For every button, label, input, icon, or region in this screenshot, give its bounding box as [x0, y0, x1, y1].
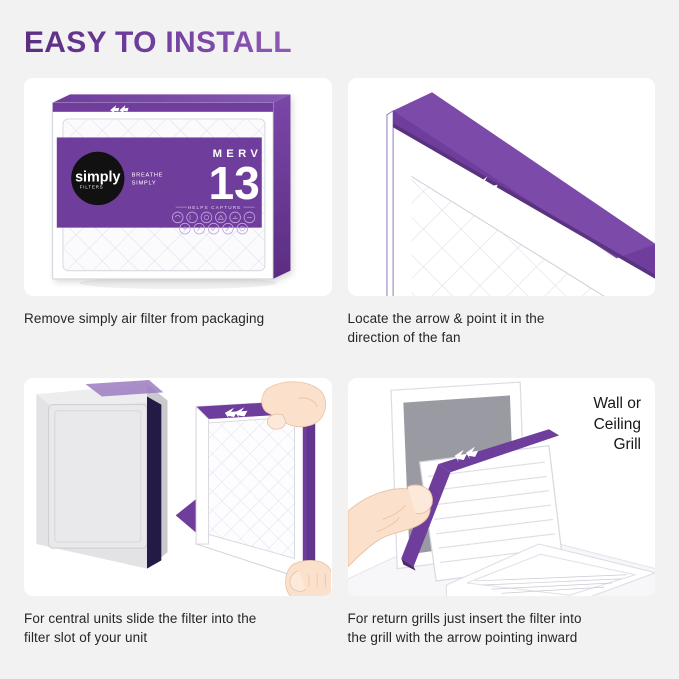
panel-3-caption: For central units slide the filter into …: [24, 609, 332, 647]
tagline-line-1: BREATHE: [132, 172, 164, 178]
panel-4-caption: For return grills just insert the filter…: [348, 609, 656, 647]
filter-slot: [147, 396, 161, 568]
central-unit-illustration: [24, 378, 331, 596]
hand-bottom: [286, 560, 332, 596]
panel-central-unit: For central units slide the filter into …: [0, 378, 340, 678]
tagline-line-2: SIMPLY: [132, 181, 157, 187]
panel-4-caption-line-2: the grill with the arrow pointing inward: [348, 628, 656, 647]
panel-grid: simply FILTERS BREATHE SIMPLY MERV 13 HE…: [0, 78, 679, 678]
panel-2-caption-line-2: direction of the fan: [348, 328, 656, 347]
panel-locate-arrow: Locate the arrow & point it in the direc…: [340, 78, 679, 378]
panel-4-caption-line-1: For return grills just insert the filter…: [348, 609, 656, 628]
panel-2-caption: Locate the arrow & point it in the direc…: [348, 309, 656, 347]
panel-4-card: Wall or Ceiling Grill: [348, 378, 656, 596]
grill-label-line-1: Wall or: [593, 394, 641, 415]
brand-sub: FILTERS: [80, 185, 104, 190]
helps-capture-label: HELPS CAPTURE: [188, 205, 242, 210]
page-title: EASY TO INSTALL: [24, 26, 292, 60]
grill-label-line-2: Ceiling: [593, 415, 641, 436]
arrow-direction-illustration: [348, 78, 655, 296]
panel-3-card: [24, 378, 332, 596]
filter-panel: [196, 401, 315, 579]
infographic-page: EASY TO INSTALL: [0, 0, 679, 679]
panel-1-card: simply FILTERS BREATHE SIMPLY MERV 13 HE…: [24, 78, 332, 296]
panel-1-caption: Remove simply air filter from packaging: [24, 309, 332, 328]
brand-name: simply: [75, 170, 120, 186]
grill-label-line-3: Grill: [593, 435, 641, 456]
product-box-illustration: simply FILTERS BREATHE SIMPLY MERV 13 HE…: [24, 78, 331, 296]
panel-3-caption-line-2: filter slot of your unit: [24, 628, 332, 647]
merv-value: 13: [208, 157, 259, 209]
panel-return-grill: Wall or Ceiling Grill For return grills …: [340, 378, 679, 678]
panel-3-caption-line-1: For central units slide the filter into …: [24, 609, 332, 628]
grill-label: Wall or Ceiling Grill: [593, 394, 641, 456]
panel-remove-filter: simply FILTERS BREATHE SIMPLY MERV 13 HE…: [0, 78, 340, 378]
hvac-unit: [36, 380, 167, 569]
hand-top: [262, 382, 326, 429]
frame-left-edge: [386, 111, 392, 296]
panel-2-caption-line-1: Locate the arrow & point it in the: [348, 309, 656, 328]
panel-2-card: [348, 78, 656, 296]
